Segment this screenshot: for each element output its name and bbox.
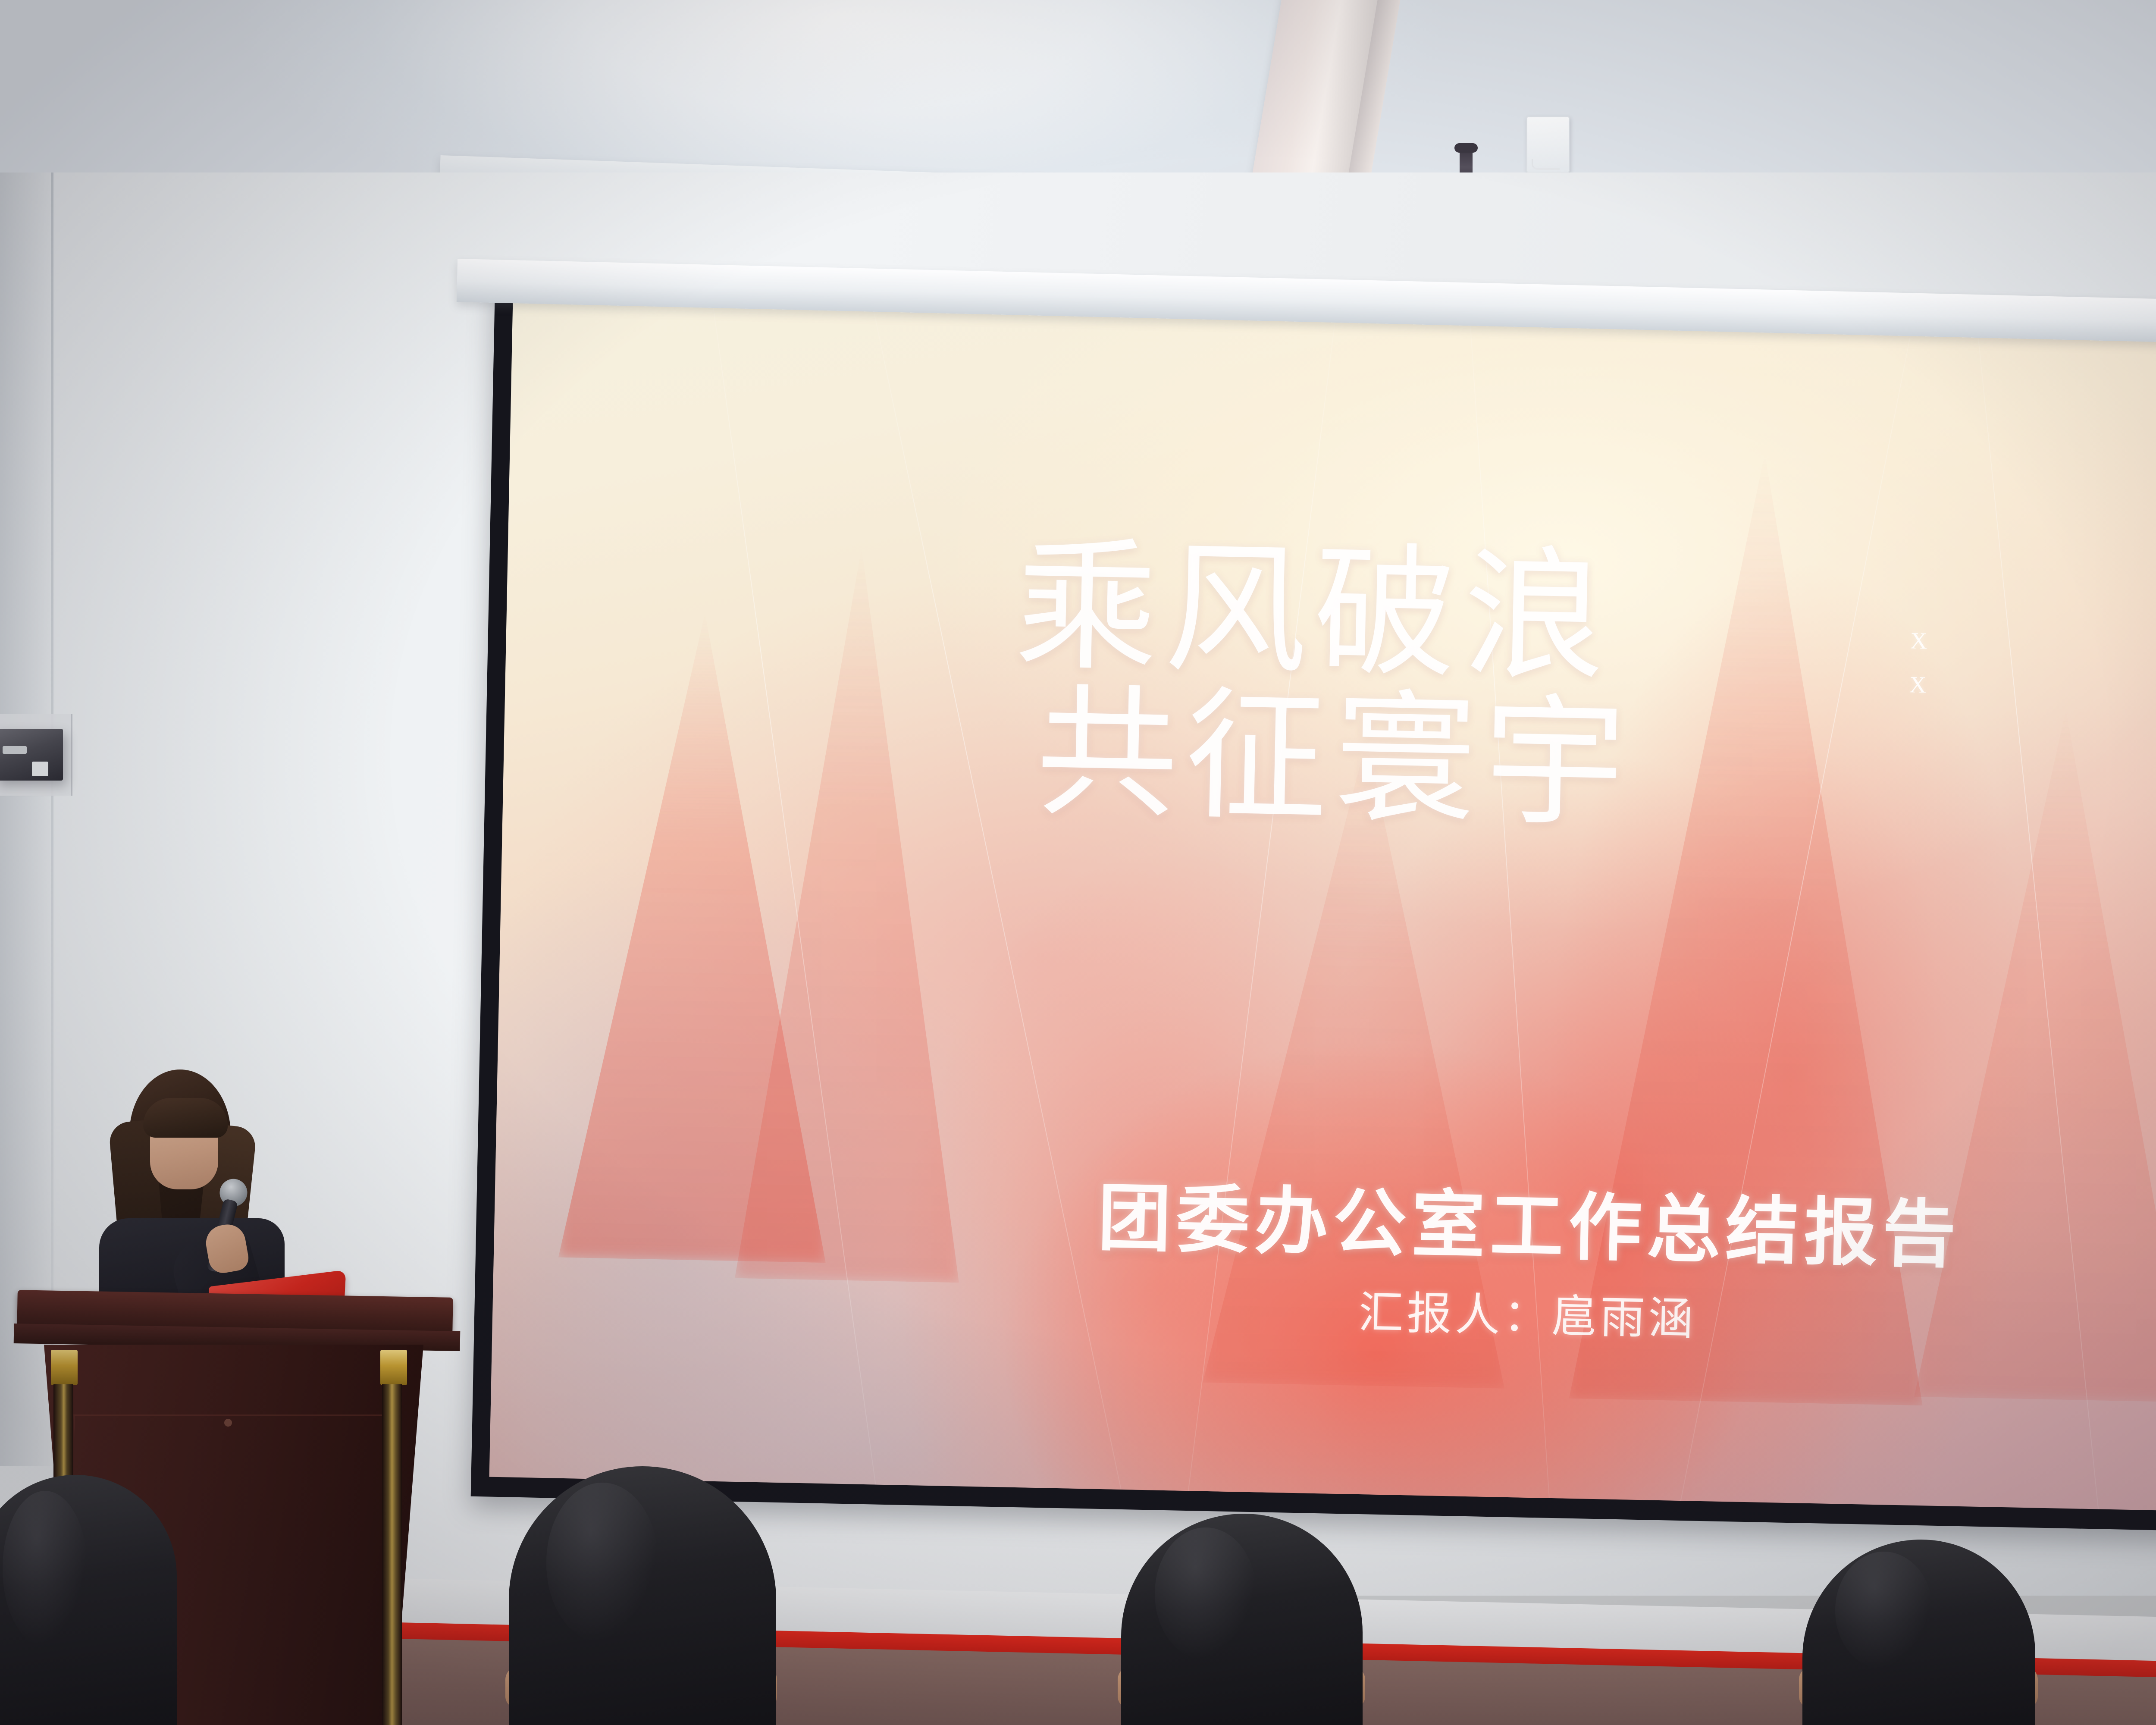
decorative-x-marks: X X: [1909, 629, 1927, 696]
lectern-gold-column-right: [382, 1384, 402, 1725]
screen-black-border: 乘风破浪 共征寰宇 X X 团委办公室工作总结报告 汇报人：扈雨涵: [471, 280, 2156, 1537]
slide-text-layer: 乘风破浪 共征寰宇 X X 团委办公室工作总结报告 汇报人：扈雨涵: [489, 299, 2156, 1517]
wall-mounted-control-box-icon: [0, 729, 63, 781]
lectern-knob: [224, 1419, 232, 1427]
slide-title-line-2: 共征寰宇: [1034, 684, 2092, 845]
presenter-bangs: [143, 1098, 228, 1138]
slide-title: 乘风破浪 共征寰宇: [1011, 538, 2095, 845]
slide-subtitle: 团委办公室工作总结报告: [994, 1156, 2065, 1284]
decorative-x-mark-2: X: [1909, 673, 1927, 696]
hair-sheen: [1835, 1552, 1933, 1669]
audience-head: [509, 1466, 776, 1725]
slide-presenter-line: 汇报人：扈雨涵: [993, 1268, 2063, 1355]
lectern-gold-cap-right: [380, 1350, 407, 1385]
projection-screen: 乘风破浪 共征寰宇 X X 团委办公室工作总结报告 汇报人：扈雨涵: [489, 299, 2156, 1517]
lectern-gold-cap-left: [51, 1350, 78, 1385]
hair-sheen: [3, 1491, 88, 1646]
ceiling-light-glare: [0, 0, 2156, 185]
audience-head: [0, 1475, 177, 1725]
decorative-x-mark-1: X: [1910, 629, 1927, 652]
hair-sheen: [1155, 1527, 1256, 1660]
hair-sheen: [546, 1483, 658, 1643]
slide-title-line-1: 乘风破浪: [1014, 538, 2095, 699]
wall-mounted-access-point-icon: [1526, 116, 1570, 172]
photo-scene: 乘风破浪 共征寰宇 X X 团委办公室工作总结报告 汇报人：扈雨涵: [0, 0, 2156, 1725]
